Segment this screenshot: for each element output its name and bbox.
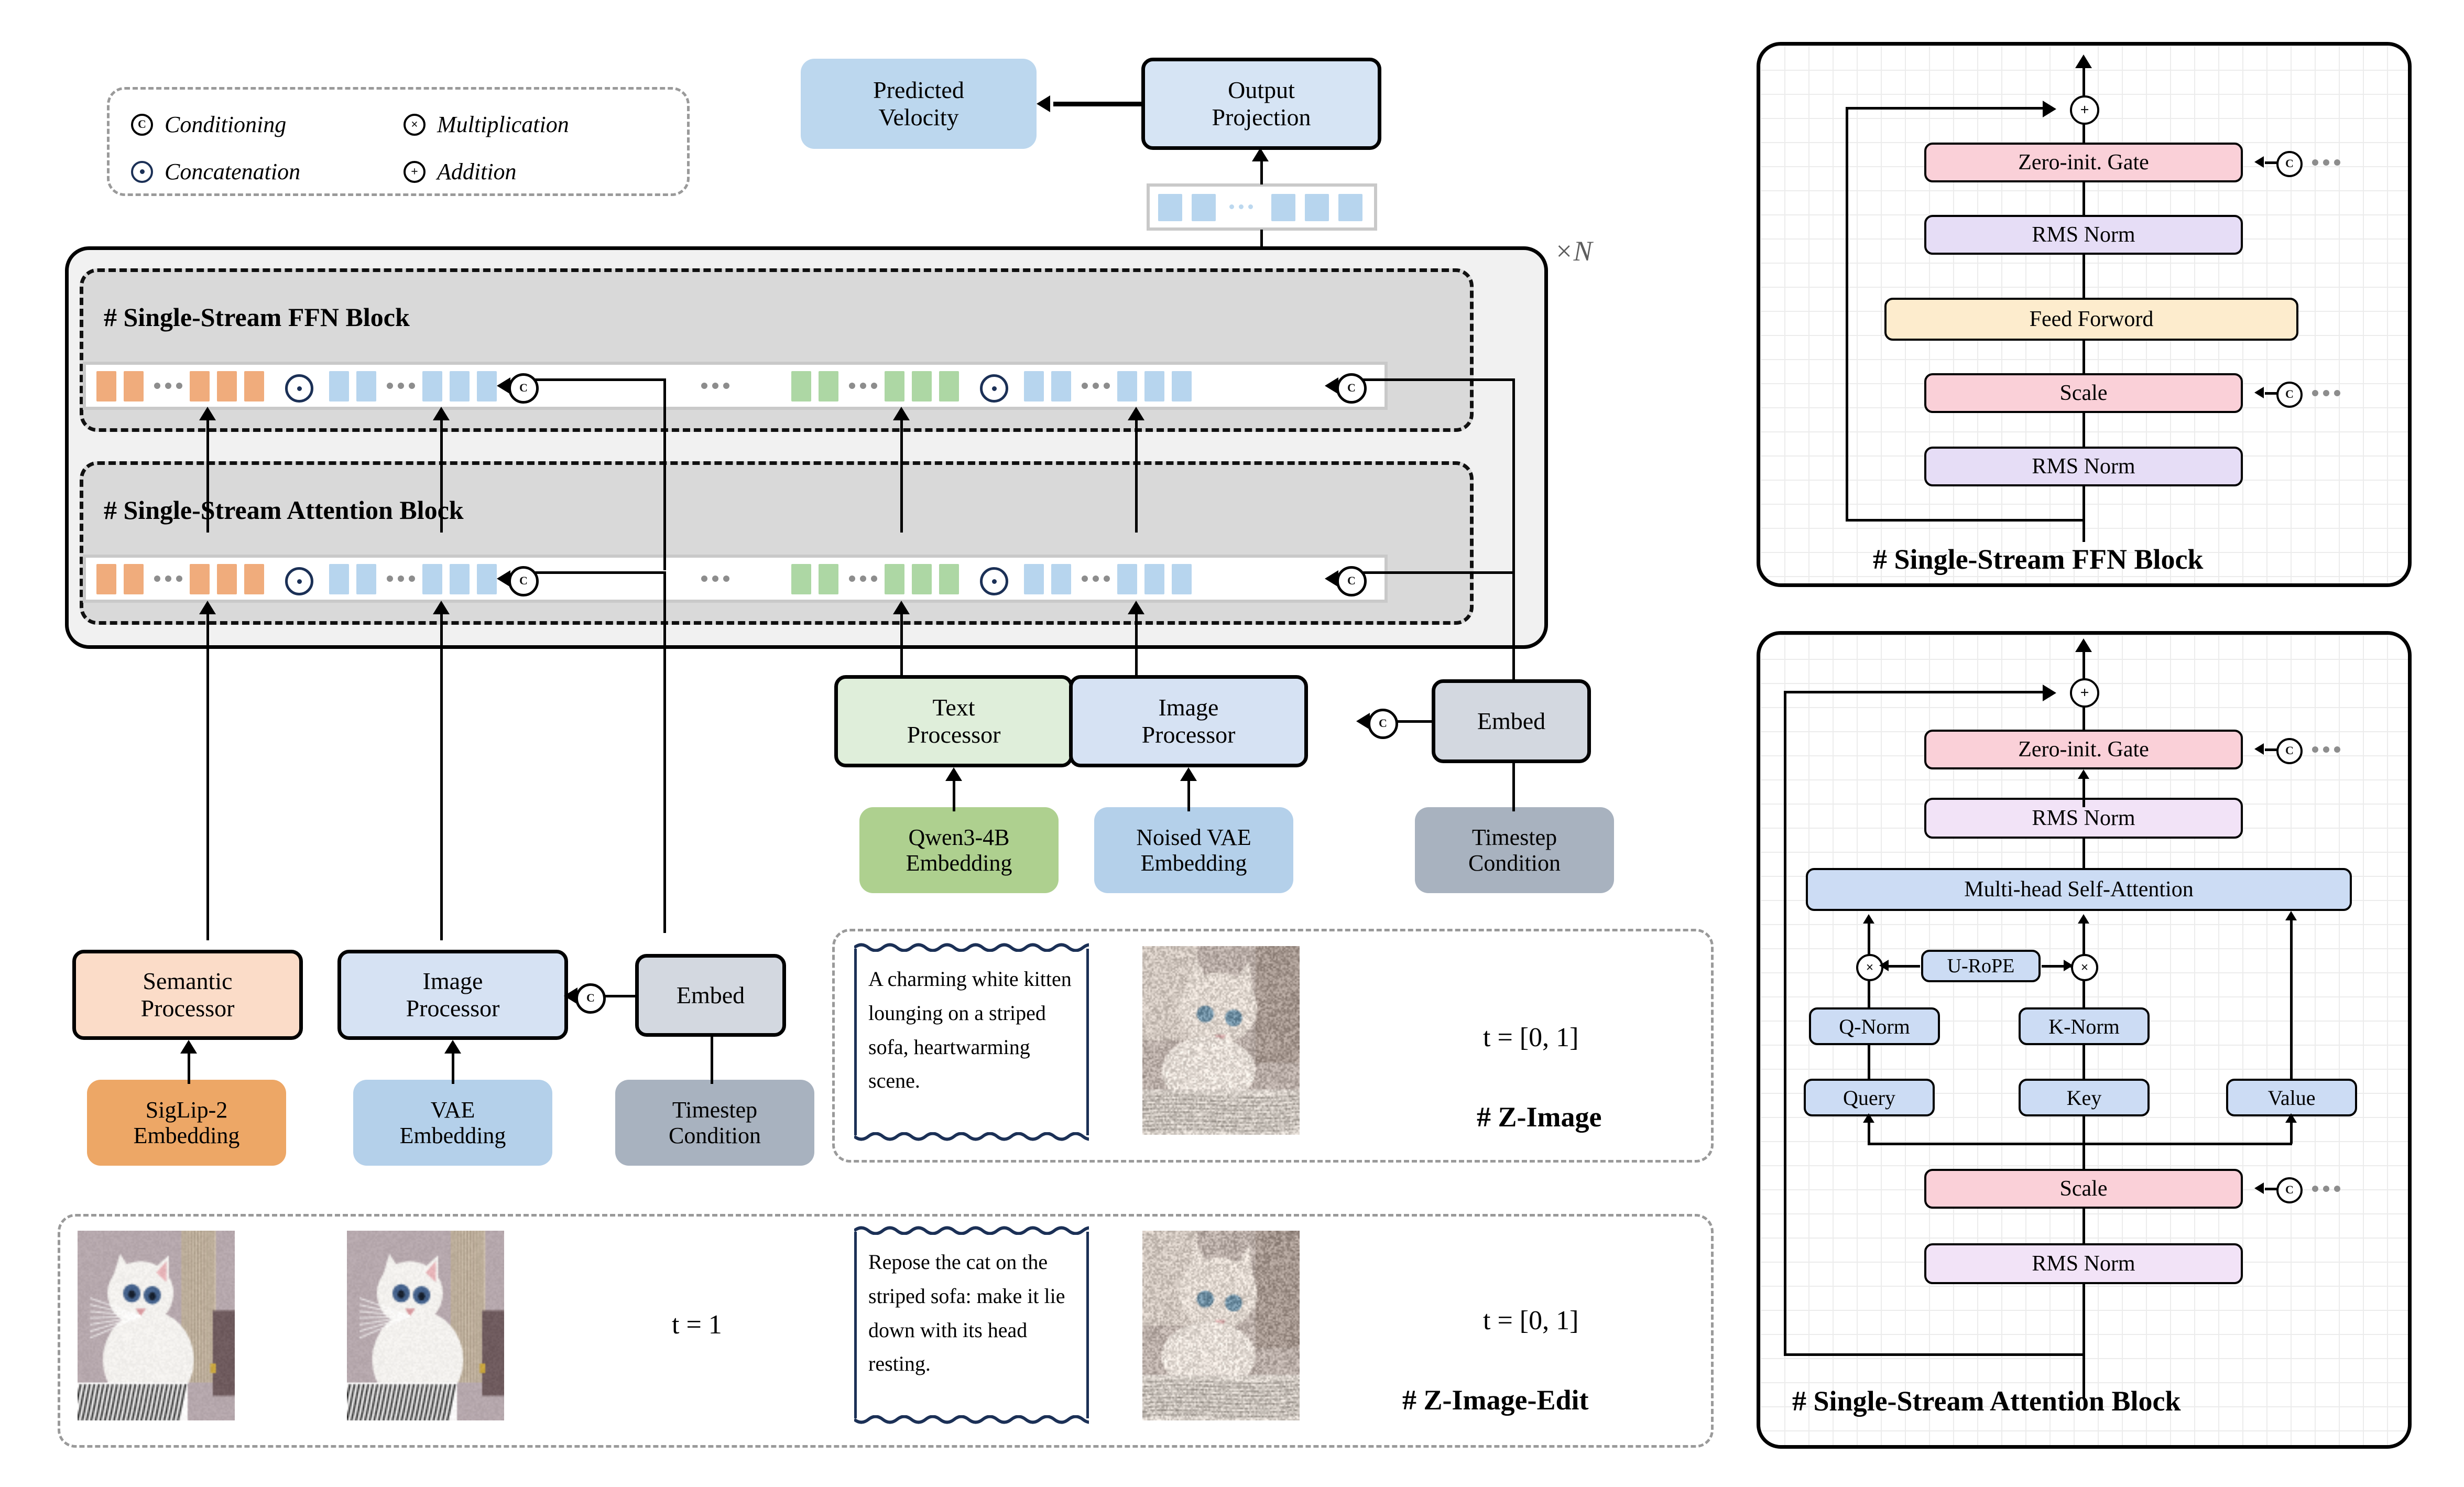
image-processor-mid-box: Image Processor	[1069, 675, 1308, 767]
arrow-vae-to-imageproc-left	[444, 1040, 461, 1054]
z-image-edit-prompt-text: Repose the cat on the striped sofa: make…	[868, 1245, 1078, 1381]
ffn-panel-title: # Single-Stream FFN Block	[1873, 543, 2203, 576]
arrow-imageproc-mid-to-attn	[1128, 601, 1144, 614]
legend-item-addition: + Addition	[404, 158, 517, 185]
attn-spine-mhsa-to-rms	[2083, 839, 2085, 869]
concatenation-symbol	[285, 374, 313, 403]
text-processor-label: Text Processor	[907, 694, 1001, 748]
image-processor-label: Image Processor	[1142, 694, 1236, 748]
ffn-cond-arrow-gate	[2254, 156, 2264, 168]
conditioning-symbol: C	[508, 566, 539, 596]
addition-symbol: +	[2070, 95, 2099, 125]
layer-label: RMS Norm	[2032, 1251, 2135, 1276]
urope-arrow-right	[2064, 960, 2073, 971]
attn-value-up	[2290, 919, 2293, 1080]
output-projection-label: Output Projection	[1212, 77, 1311, 131]
output-token-strip	[1147, 183, 1377, 231]
timestep-condition-label: Timestep Condition	[669, 1097, 761, 1149]
attn-arrow-value-up	[2285, 911, 2297, 920]
line-text-to-attn	[900, 608, 903, 677]
attention-strip-tokens: C C	[83, 555, 1388, 603]
attn-query-box: Query	[1804, 1079, 1935, 1116]
cond-feed-h-ffn-right	[1361, 378, 1514, 381]
attn-arrow-to-query	[1863, 1113, 1874, 1123]
conditioning-symbol: C	[2276, 382, 2303, 408]
siglip2-embedding-box: SigLip-2 Embedding	[87, 1080, 286, 1166]
arrow-embed-to-imageproc-left	[564, 987, 577, 1004]
ffn-zero-init-gate-box: Zero-init. Gate	[1924, 143, 2243, 182]
ffn-cond-dots-scale	[2312, 390, 2340, 396]
attn-multi-head-self-attention-box: Multi-head Self-Attention	[1806, 868, 2352, 911]
ffn-residual-bottom	[1846, 519, 2084, 522]
conditioning-symbol: C	[1336, 373, 1367, 404]
attn-bus-to-query	[1868, 1122, 1870, 1144]
legend-label: Conditioning	[165, 111, 286, 138]
timestep-condition-left-box: Timestep Condition	[615, 1080, 814, 1166]
ffn-scale-box: Scale	[1924, 373, 2243, 413]
multiplication-symbol: ×	[404, 114, 426, 136]
concatenation-symbol	[980, 567, 1008, 595]
line-imageproc-left-to-attn	[440, 608, 443, 940]
layer-label: Multi-head Self-Attention	[1964, 877, 2193, 902]
arrow-head-cond-1	[497, 377, 510, 394]
embed-label: Embed	[677, 982, 745, 1009]
arrow-head-cond-2	[1325, 377, 1338, 394]
line-attn-to-ffn-4	[1135, 414, 1138, 533]
z-image-prompt-text: A charming white kitten lounging on a st…	[868, 962, 1078, 1098]
attn-qkv-bus	[1868, 1143, 2292, 1145]
z-image-edit-ref-photo	[347, 1231, 504, 1420]
z-image-edit-source-photo	[78, 1231, 235, 1420]
arrow-head-to-velocity	[1037, 95, 1050, 112]
addition-symbol: +	[404, 161, 426, 183]
ffn-output-arrow	[2075, 55, 2092, 68]
attn-scale-box: Scale	[1924, 1169, 2243, 1209]
conditioning-symbol: C	[1336, 566, 1367, 596]
attn-cond-arrow-gate	[2254, 743, 2264, 755]
arrow-attn-to-ffn-3	[893, 407, 910, 420]
k-norm-label: K-Norm	[2048, 1014, 2120, 1039]
arrow-head-cond-4	[1325, 570, 1338, 587]
embed-label: Embed	[1477, 708, 1545, 735]
conditioning-symbol: C	[575, 983, 606, 1014]
z-image-edit-timestep-right-label: t = [0, 1]	[1483, 1305, 1578, 1336]
line-timestep-to-embed-left	[711, 1035, 713, 1084]
layer-label: Zero-init. Gate	[2018, 150, 2149, 175]
repeat-count-label: ×N	[1554, 235, 1592, 267]
attn-residual-vertical	[1784, 691, 1786, 1355]
attn-arrow-to-value	[2285, 1113, 2297, 1123]
cond-feed-line-left-down	[663, 571, 666, 933]
arrow-attn-to-ffn-2	[433, 407, 450, 420]
qwen3-embedding-box: Qwen3-4B Embedding	[859, 807, 1059, 893]
legend-item-conditioning: C Conditioning	[131, 111, 286, 138]
attn-zero-init-gate-box: Zero-init. Gate	[1924, 730, 2243, 769]
concatenation-symbol	[285, 567, 313, 595]
attn-u-rope-box: U-RoPE	[1921, 950, 2041, 982]
attn-bus-to-value	[2290, 1122, 2293, 1144]
urope-line-left	[1887, 965, 1920, 968]
cond-feed-line-right	[1512, 378, 1515, 571]
attention-block-title: # Single-Stream Attention Block	[104, 495, 464, 525]
line-attn-to-ffn-3	[900, 414, 903, 533]
multiplication-symbol: ×	[2071, 954, 2098, 981]
cond-feed-h-attn-right	[1361, 571, 1514, 574]
architecture-diagram: C Conditioning × Multiplication Concaten…	[0, 0, 2464, 1487]
arrow-qwen-to-text	[945, 767, 962, 781]
ffn-residual-vertical	[1846, 107, 1848, 521]
layer-label: Scale	[2060, 1176, 2108, 1201]
attn-q-norm-box: Q-Norm	[1809, 1007, 1940, 1045]
conditioning-symbol: C	[1368, 709, 1398, 739]
attn-output-arrow	[2075, 638, 2092, 652]
attn-spine-rms-to-gate	[2083, 778, 2085, 807]
attn-arrow-rms-to-gate	[2078, 769, 2089, 779]
conditioning-symbol: C	[131, 114, 153, 136]
layer-label: RMS Norm	[2032, 454, 2135, 479]
layer-label: Scale	[2060, 381, 2108, 406]
conditioning-symbol: C	[2276, 738, 2303, 764]
line-timestep-to-embed-mid	[1512, 761, 1515, 811]
legend-label: Concatenation	[165, 158, 300, 185]
ffn-spine-mid2	[2083, 341, 2085, 373]
timestep-condition-label: Timestep Condition	[1468, 824, 1561, 876]
arrow-attn-to-ffn-4	[1128, 407, 1144, 420]
attn-residual-top	[1784, 691, 2045, 693]
vae-embedding-box: VAE Embedding	[353, 1080, 552, 1166]
noised-vae-embedding-label: Noised VAE Embedding	[1136, 824, 1251, 876]
attn-spine-knorm-to-key	[2083, 1045, 2085, 1080]
note-top-wave	[854, 941, 1089, 952]
ffn-block-title: # Single-Stream FFN Block	[104, 302, 410, 332]
attn-arrow-qnorm-up	[1863, 914, 1874, 924]
line-imageproc-mid-to-attn	[1135, 608, 1138, 677]
siglip2-embedding-label: SigLip-2 Embedding	[134, 1097, 240, 1149]
attn-residual-bottom	[1784, 1353, 2085, 1356]
text-processor-box: Text Processor	[834, 675, 1073, 767]
arrow-attn-to-ffn-1	[199, 407, 216, 420]
attn-query-to-qnorm	[1868, 1045, 1870, 1080]
predicted-velocity-box: Predicted Velocity	[801, 59, 1037, 149]
qwen3-embedding-label: Qwen3-4B Embedding	[906, 824, 1012, 876]
ffn-spine-bottom	[2083, 486, 2085, 542]
arrow-head-cond-3	[497, 570, 510, 587]
z-image-edit-timestep-left-label: t = 1	[672, 1309, 722, 1340]
embed-mid-box: Embed	[1432, 679, 1591, 763]
note-bottom-wave	[854, 1132, 1089, 1143]
key-label: Key	[2067, 1086, 2102, 1110]
attn-k-norm-box: K-Norm	[2019, 1007, 2150, 1045]
ffn-feed-forword-box: Feed Forword	[1884, 298, 2298, 341]
z-image-edit-prompt-note: Repose the cat on the striped sofa: make…	[854, 1232, 1089, 1418]
conditioning-symbol: C	[2276, 1177, 2303, 1203]
value-label: Value	[2267, 1086, 2315, 1110]
conditioning-symbol: C	[2276, 151, 2303, 177]
attn-spine-scale-to-norm	[2083, 1209, 2085, 1244]
query-label: Query	[1843, 1086, 1895, 1110]
arrow-embed-to-imageproc-mid	[1356, 713, 1370, 730]
concatenation-symbol	[131, 161, 153, 183]
addition-symbol: +	[2070, 678, 2099, 708]
output-projection-box: Output Projection	[1141, 58, 1381, 150]
semantic-processor-label: Semantic Processor	[141, 968, 235, 1022]
legend-item-concatenation: Concatenation	[131, 158, 300, 185]
ffn-spine-mid3	[2083, 255, 2085, 298]
arrow-vae-to-imageproc-mid	[1180, 767, 1197, 781]
ffn-rms-norm-top-box: RMS Norm	[1924, 215, 2243, 255]
legend-label: Multiplication	[437, 111, 569, 138]
line-embed-to-imageproc-left	[602, 995, 637, 997]
arrow-line-out-to-velocity	[1053, 102, 1142, 106]
vae-embedding-label: VAE Embedding	[400, 1097, 506, 1149]
predicted-velocity-label: Predicted Velocity	[873, 77, 964, 131]
arrow-semantic-to-attn	[199, 601, 216, 614]
attn-arrow-knorm-up	[2078, 914, 2089, 924]
legend-label: Addition	[437, 158, 517, 185]
z-image-panel-title: # Z-Image	[1477, 1101, 1601, 1133]
ffn-residual-arrow	[2043, 101, 2056, 117]
ffn-residual-top	[1846, 107, 2045, 110]
z-image-timestep-label: t = [0, 1]	[1483, 1022, 1578, 1053]
layer-label: Zero-init. Gate	[2018, 737, 2149, 762]
embed-left-box: Embed	[635, 954, 786, 1037]
semantic-processor-box: Semantic Processor	[72, 950, 303, 1040]
note-top-wave	[854, 1224, 1089, 1235]
attn-cond-arrow-scale	[2254, 1182, 2264, 1194]
layer-label: RMS Norm	[2032, 806, 2135, 831]
note-bottom-wave	[854, 1415, 1089, 1426]
line-attn-to-ffn-1	[206, 414, 209, 533]
ffn-spine-mid1	[2083, 413, 2085, 447]
ffn-cond-dots-gate	[2312, 159, 2340, 166]
z-image-edit-output-photo	[1142, 1231, 1300, 1420]
attn-cond-dots-gate	[2312, 746, 2340, 753]
concatenation-symbol	[980, 374, 1008, 403]
attn-key-box: Key	[2019, 1079, 2150, 1116]
z-image-prompt-note: A charming white kitten lounging on a st…	[854, 949, 1089, 1135]
line-embed-to-imageproc-mid	[1394, 720, 1434, 723]
image-processor-left-box: Image Processor	[337, 950, 568, 1040]
legend-item-multiplication: × Multiplication	[404, 111, 569, 138]
u-rope-label: U-RoPE	[1947, 954, 2015, 978]
attn-value-box: Value	[2226, 1079, 2357, 1116]
arrow-imageproc-left-to-attn	[433, 601, 450, 614]
attn-spine-in	[2083, 1284, 2085, 1399]
attn-rms-norm-bottom-box: RMS Norm	[1924, 1243, 2243, 1284]
line-semantic-to-attn	[206, 608, 209, 940]
cond-feed-h-ffn-left	[533, 378, 666, 381]
layer-label: RMS Norm	[2032, 222, 2135, 247]
arrow-siglip-to-semantic	[180, 1040, 197, 1054]
attn-residual-arrow	[2043, 685, 2056, 701]
ffn-cond-arrow-scale	[2254, 387, 2264, 398]
ffn-rms-norm-bottom-box: RMS Norm	[1924, 447, 2243, 486]
timestep-condition-mid-box: Timestep Condition	[1415, 807, 1614, 893]
noised-vae-embedding-box: Noised VAE Embedding	[1094, 807, 1293, 893]
cond-feed-line-left	[663, 378, 666, 570]
arrow-head-to-output	[1252, 148, 1269, 161]
ffn-strip-tokens: C C	[83, 362, 1388, 410]
conditioning-symbol: C	[508, 373, 539, 404]
image-processor-label: Image Processor	[406, 968, 500, 1022]
attention-panel-title: # Single-Stream Attention Block	[1792, 1385, 2181, 1417]
cond-feed-h-attn-left	[533, 571, 666, 574]
z-image-edit-panel-title: # Z-Image-Edit	[1402, 1384, 1588, 1416]
ffn-spine-mid4	[2083, 182, 2085, 215]
urope-arrow-left	[1879, 960, 1889, 971]
q-norm-label: Q-Norm	[1839, 1014, 1910, 1039]
layer-label: Feed Forword	[2030, 307, 2154, 332]
line-attn-to-ffn-2	[440, 414, 443, 533]
z-image-output-photo	[1142, 946, 1300, 1135]
arrow-text-to-attn	[893, 601, 910, 614]
attn-cond-dots-scale	[2312, 1186, 2340, 1192]
